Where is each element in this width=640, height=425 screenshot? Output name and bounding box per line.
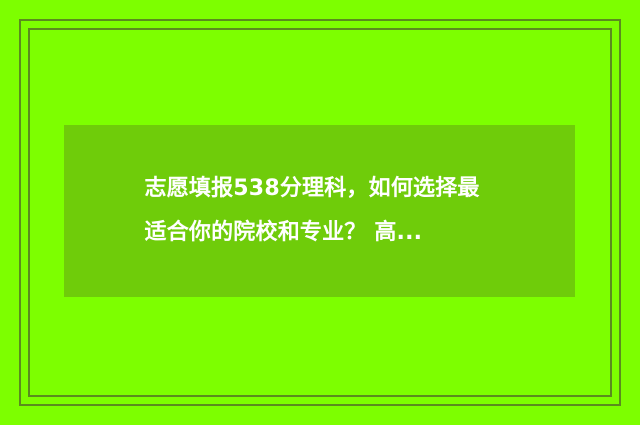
thumbnail-card: 志愿填报538分理科，如何选择最适合你的院校和专业？ 高... (0, 0, 640, 425)
headline-text: 志愿填报538分理科，如何选择最适合你的院校和专业？ 高... (145, 167, 495, 255)
headline-panel: 志愿填报538分理科，如何选择最适合你的院校和专业？ 高... (64, 125, 575, 297)
